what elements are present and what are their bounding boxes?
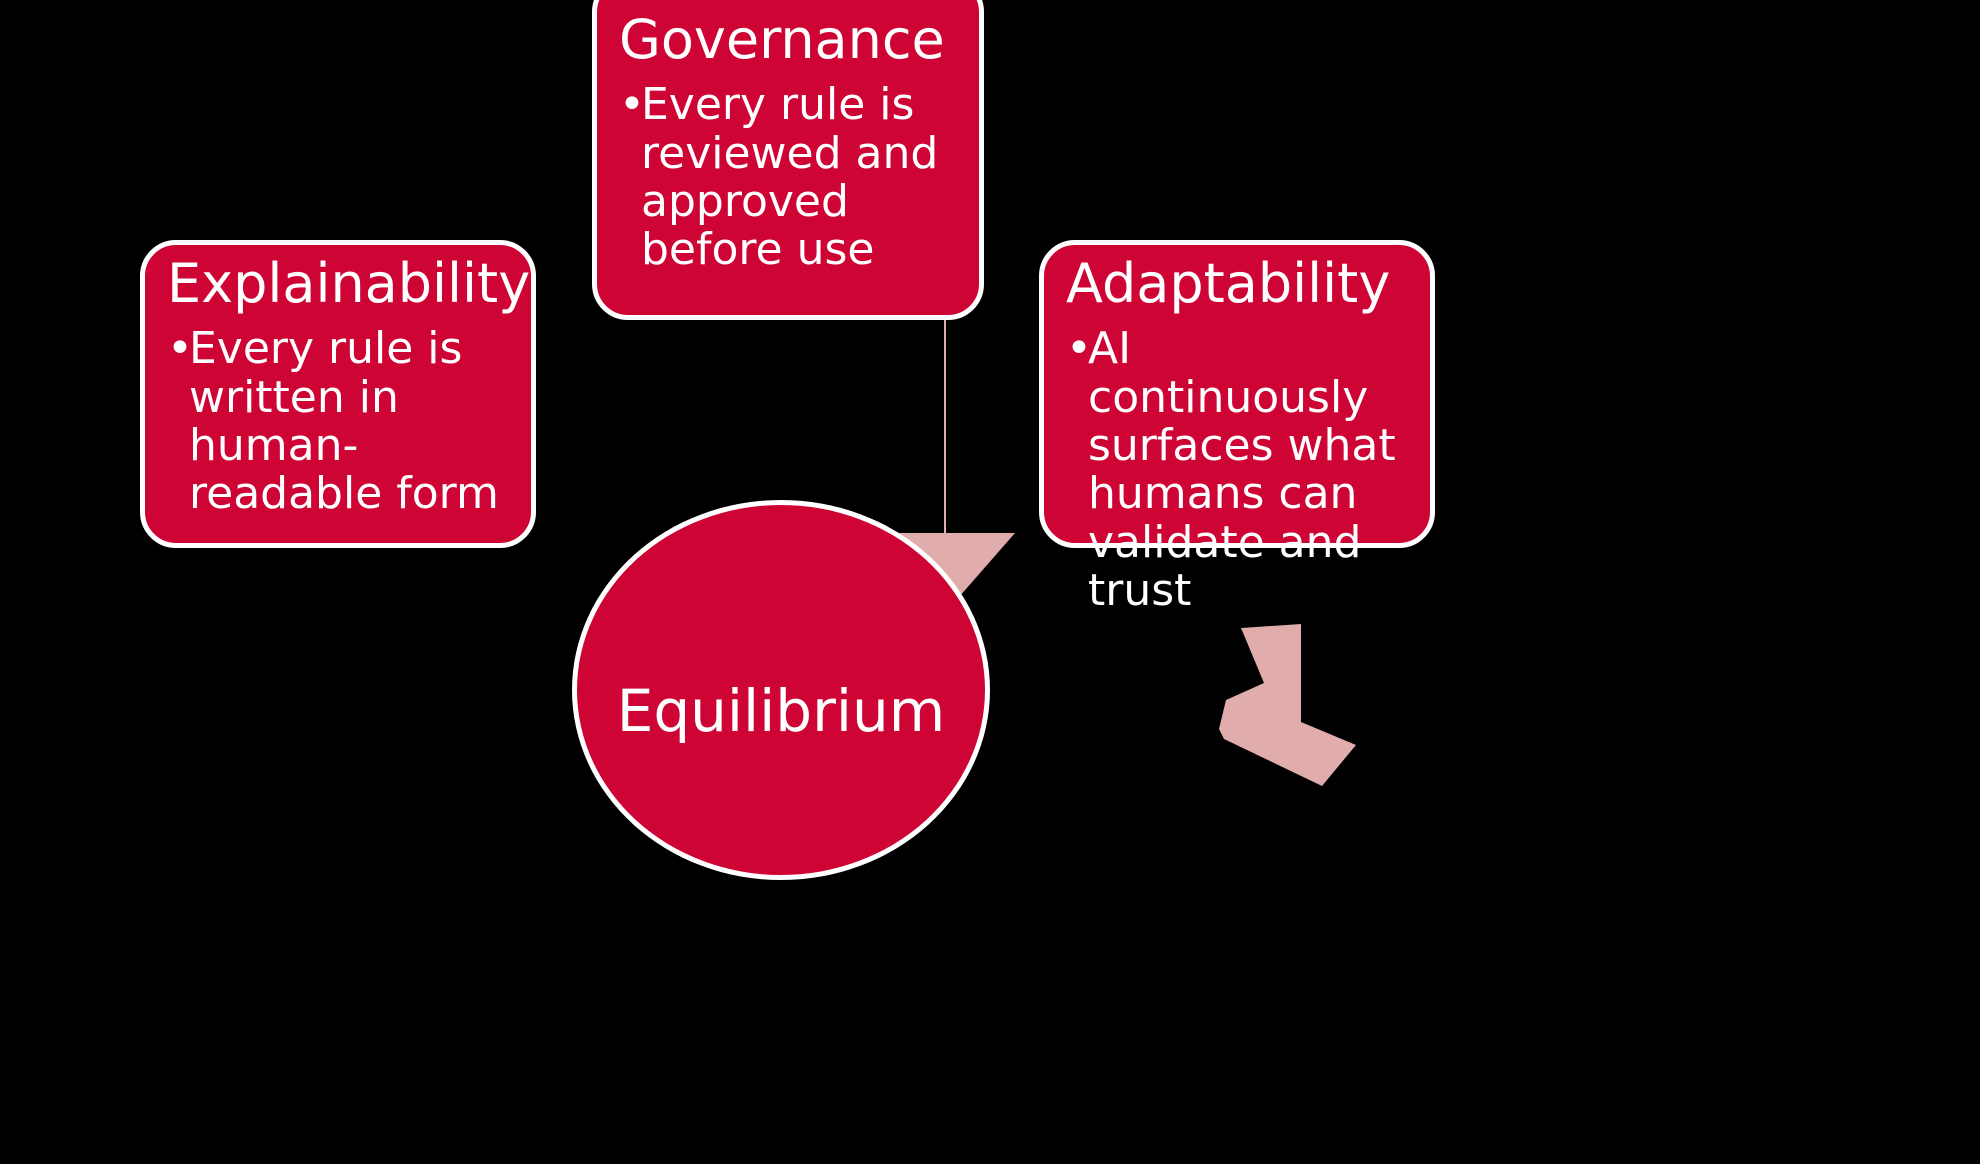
node-equilibrium[interactable]: Equilibrium: [572, 500, 990, 880]
node-equilibrium-label: Equilibrium: [617, 680, 946, 744]
diagram-canvas: Governance Every rule is reviewed and ap…: [0, 0, 1980, 1164]
node-explainability-bullets: Every rule is written in human-readable …: [167, 325, 509, 521]
node-adaptability-bullet-0: AI continuously surfaces what humans can…: [1066, 325, 1408, 615]
node-adaptability-title: Adaptability: [1066, 255, 1408, 313]
arrow-layer: [0, 0, 1980, 1164]
node-governance[interactable]: Governance Every rule is reviewed and ap…: [592, 0, 984, 320]
node-explainability[interactable]: Explainability Every rule is written in …: [140, 240, 536, 548]
node-governance-bullet-0: Every rule is reviewed and approved befo…: [619, 81, 957, 275]
node-governance-bullets: Every rule is reviewed and approved befo…: [619, 81, 957, 277]
node-adaptability[interactable]: Adaptability AI continuously surfaces wh…: [1039, 240, 1435, 548]
node-adaptability-bullets: AI continuously surfaces what humans can…: [1066, 325, 1408, 617]
node-explainability-bullet-0: Every rule is written in human-readable …: [167, 325, 509, 519]
arrow-adaptability-to-equilibrium: [1219, 624, 1356, 786]
node-explainability-title: Explainability: [167, 255, 509, 313]
node-governance-title: Governance: [619, 11, 957, 69]
